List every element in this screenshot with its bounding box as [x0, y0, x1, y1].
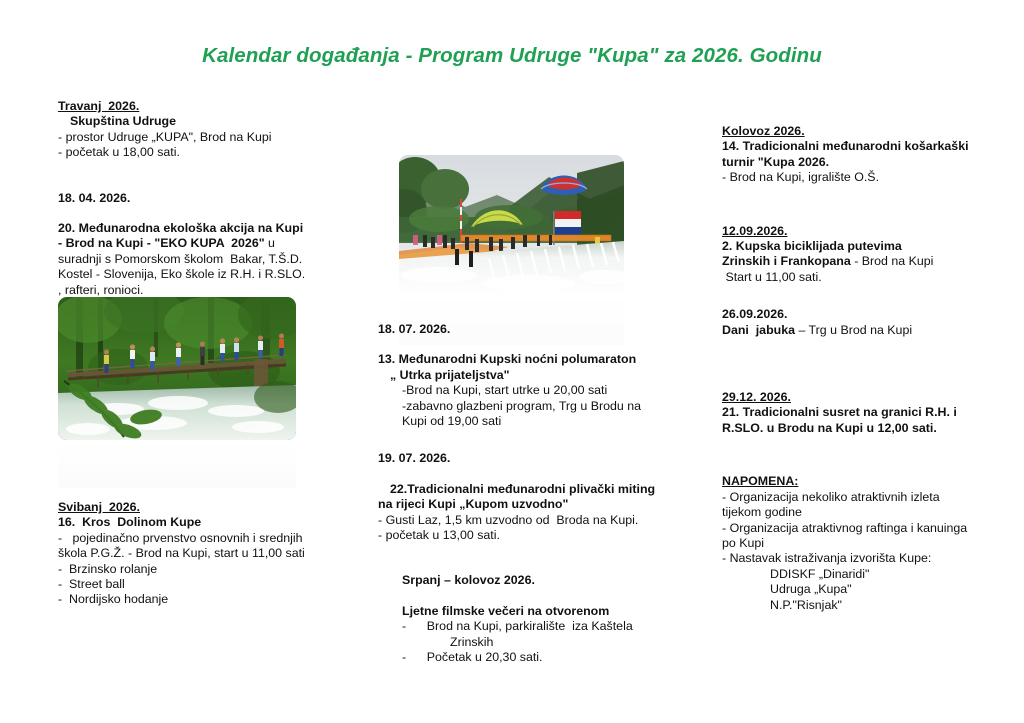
- event-title-plivacki-2: na rijeci Kupi „Kupom uzvodno": [378, 497, 678, 512]
- photo-bridge-runners-image: [58, 297, 296, 440]
- spacer: [722, 186, 1014, 216]
- event-title-kosarka-1: 14. Tradicionalni međunarodni košarkaški: [722, 139, 1014, 154]
- event-detail-filmske-1: - Brod na Kupi, parkiralište iza Kaštela: [402, 619, 678, 634]
- event-title-skupstina: Skupština Udruge: [58, 114, 350, 129]
- page-title: Kalendar događanja - Program Udruge "Kup…: [0, 44, 1024, 68]
- event-date-eko: 18. 04. 2026.: [58, 191, 350, 206]
- spacer: [58, 206, 350, 221]
- spacer: [378, 543, 678, 573]
- spacer: [722, 368, 1014, 390]
- note-napomena: NAPOMENA: - Organizacija nekoliko atrakt…: [722, 474, 1014, 613]
- bridge-scene-graphic: [58, 297, 296, 440]
- event-title-dani-jabuka-bold: Dani jabuka: [722, 323, 795, 337]
- event-susret-na-granici: 29.12. 2026. 21. Tradicionalni susret na…: [722, 390, 1014, 436]
- event-detail-plivacki-1: - Gusti Laz, 1,5 km uzvodno od Broda na …: [378, 513, 678, 528]
- event-detail-polumaraton-3: Kupi od 19,00 sati: [378, 414, 678, 429]
- event-title-susret-2: R.SLO. u Brodu na Kupi u 12,00 sati.: [722, 421, 1014, 436]
- event-detail-polumaraton-2: -zabavno glazbeni program, Trg u Brodu n…: [378, 399, 678, 414]
- event-date-filmske: Srpanj – kolovoz 2026.: [402, 573, 678, 588]
- event-title-dani-jabuka: Dani jabuka – Trg u Brod na Kupi: [722, 323, 1014, 338]
- event-detail-eko-3: , rafteri, ronioci.: [58, 283, 350, 298]
- event-title-biciklijada-2: Zrinskih i Frankopana - Brod na Kupi: [722, 254, 1014, 269]
- river-scene-graphic: [399, 155, 624, 295]
- event-date-dani-jabuka: 26.09.2026.: [722, 307, 1014, 322]
- document-page: Kalendar događanja - Program Udruge "Kup…: [0, 0, 1024, 723]
- event-polumaraton: 18. 07. 2026. 13. Međunarodni Kupski noć…: [378, 322, 678, 429]
- spacer: [722, 216, 1014, 224]
- note-item-3: N.P."Risnjak": [722, 598, 1014, 613]
- event-title-susret-1: 21. Tradicionalni susret na granici R.H.…: [722, 405, 1014, 420]
- event-detail-kros-1: - pojedinačno prvenstvo osnovnih i sredn…: [58, 531, 350, 546]
- note-item-1: DDISKF „Dinaridi": [722, 567, 1014, 582]
- event-title-polumaraton-2: „ Utrka prijateljstva": [378, 368, 678, 383]
- event-plivacki-miting: 19. 07. 2026. 22.Tradicionalni međunarod…: [378, 451, 678, 543]
- event-title-polumaraton-1: 13. Međunarodni Kupski noćni polumaraton: [378, 352, 678, 367]
- event-title-kosarka-2: turnir "Kupa 2026.: [722, 155, 1014, 170]
- event-detail-eko-1: suradnji s Pomorskom školom Bakar, T.Š.D…: [58, 252, 350, 267]
- event-dani-jabuka: 26.09.2026. Dani jabuka – Trg u Brod na …: [722, 307, 1014, 338]
- event-kosarkaski-turnir: Kolovoz 2026. 14. Tradicionalni međunaro…: [722, 124, 1014, 186]
- event-heading-travanj: Travanj 2026.: [58, 99, 350, 114]
- event-title-biciklijada-1: 2. Kupska biciklijada putevima: [722, 239, 1014, 254]
- event-heading-susret: 29.12. 2026.: [722, 390, 1014, 405]
- photo-bridge-reflection: [58, 440, 296, 488]
- event-title-biciklijada-2-tail: - Brod na Kupi: [851, 254, 934, 268]
- event-title-eko-2-bold: - Brod na Kupi - "EKO KUPA 2026": [58, 236, 265, 250]
- event-title-biciklijada-2-bold: Zrinskih i Frankopana: [722, 254, 851, 268]
- spacer: [58, 161, 350, 191]
- event-title-dani-jabuka-tail: – Trg u Brod na Kupi: [795, 323, 912, 337]
- spacer: [378, 467, 678, 482]
- event-detail-filmske-3: - Početak u 20,30 sati.: [402, 650, 678, 665]
- note-heading: NAPOMENA:: [722, 474, 1014, 489]
- event-kros-dolinom-kupe: Svibanj 2026. 16. Kros Dolinom Kupe - po…: [58, 500, 350, 608]
- event-date-plivacki: 19. 07. 2026.: [378, 451, 678, 466]
- event-title-kros: 16. Kros Dolinom Kupe: [58, 515, 350, 530]
- event-skupstina-udruge: Travanj 2026. Skupština Udruge - prostor…: [58, 99, 350, 161]
- event-title-plivacki-1: 22.Tradicionalni međunarodni plivački mi…: [378, 482, 678, 497]
- photo-river-weir: [399, 155, 624, 295]
- event-title-filmske: Ljetne filmske večeri na otvorenom: [402, 604, 678, 619]
- event-title-eko-2-tail: u: [265, 236, 275, 250]
- note-line-1: - Organizacija nekoliko atraktivnih izle…: [722, 490, 1014, 505]
- spacer: [722, 466, 1014, 474]
- right-column: Kolovoz 2026. 14. Tradicionalni međunaro…: [722, 124, 1014, 613]
- event-detail-plivacki-2: - početak u 13,00 sati.: [378, 528, 678, 543]
- note-item-2: Udruga „Kupa": [722, 582, 1014, 597]
- middle-column: 18. 07. 2026. 13. Međunarodni Kupski noć…: [378, 322, 678, 666]
- event-heading-biciklijada: 12.09.2026.: [722, 224, 1014, 239]
- event-detail-kros-4: - Street ball: [58, 577, 350, 592]
- note-line-3: - Organizacija atraktivnog raftinga i ka…: [722, 521, 1014, 536]
- event-detail-polumaraton-1: -Brod na Kupi, start utrke u 20,00 sati: [378, 383, 678, 398]
- event-detail-kros-3: - Brzinsko rolanje: [58, 562, 350, 577]
- bridge-reflection-graphic: [58, 440, 296, 488]
- spacer: [378, 337, 678, 352]
- event-biciklijada: 12.09.2026. 2. Kupska biciklijada putevi…: [722, 224, 1014, 286]
- event-filmske-veceri: Srpanj – kolovoz 2026. Ljetne filmske ve…: [378, 573, 678, 665]
- event-heading-svibanj: Svibanj 2026.: [58, 500, 350, 515]
- event-title-eko-1: 20. Međunarodna ekološka akcija na Kupi: [58, 221, 350, 236]
- event-detail-kros-5: - Nordijsko hodanje: [58, 592, 350, 607]
- event-heading-kolovoz: Kolovoz 2026.: [722, 124, 1014, 139]
- photo-bridge-runners: [58, 297, 296, 440]
- spacer: [378, 429, 678, 451]
- event-detail-filmske-2: Zrinskih: [402, 635, 678, 650]
- note-line-5: - Nastavak istraživanja izvorišta Kupe:: [722, 551, 1014, 566]
- event-detail-time: - početak u 18,00 sati.: [58, 145, 350, 160]
- event-detail-location: - prostor Udruge „KUPA", Brod na Kupi: [58, 130, 350, 145]
- spacer: [402, 589, 678, 604]
- event-detail-kosarka: - Brod na Kupi, igralište O.Š.: [722, 170, 1014, 185]
- note-line-2: tijekom godine: [722, 505, 1014, 520]
- event-eko-kupa: 18. 04. 2026. 20. Međunarodna ekološka a…: [58, 191, 350, 298]
- event-detail-kros-2: škola P.G.Ž. - Brod na Kupi, start u 11,…: [58, 546, 350, 561]
- photo-river-weir-image: [399, 155, 624, 295]
- event-detail-eko-2: Kostel - Slovenija, Eko škole iz R.H. i …: [58, 267, 350, 282]
- spacer: [722, 436, 1014, 466]
- left-column: Travanj 2026. Skupština Udruge - prostor…: [58, 99, 350, 298]
- event-date-polumaraton: 18. 07. 2026.: [378, 322, 678, 337]
- left-column-lower: Svibanj 2026. 16. Kros Dolinom Kupe - po…: [58, 500, 350, 608]
- event-detail-biciklijada: Start u 11,00 sati.: [722, 270, 1014, 285]
- event-title-eko-2: - Brod na Kupi - "EKO KUPA 2026" u: [58, 236, 350, 251]
- spacer: [722, 285, 1014, 307]
- spacer: [722, 338, 1014, 368]
- note-line-4: po Kupi: [722, 536, 1014, 551]
